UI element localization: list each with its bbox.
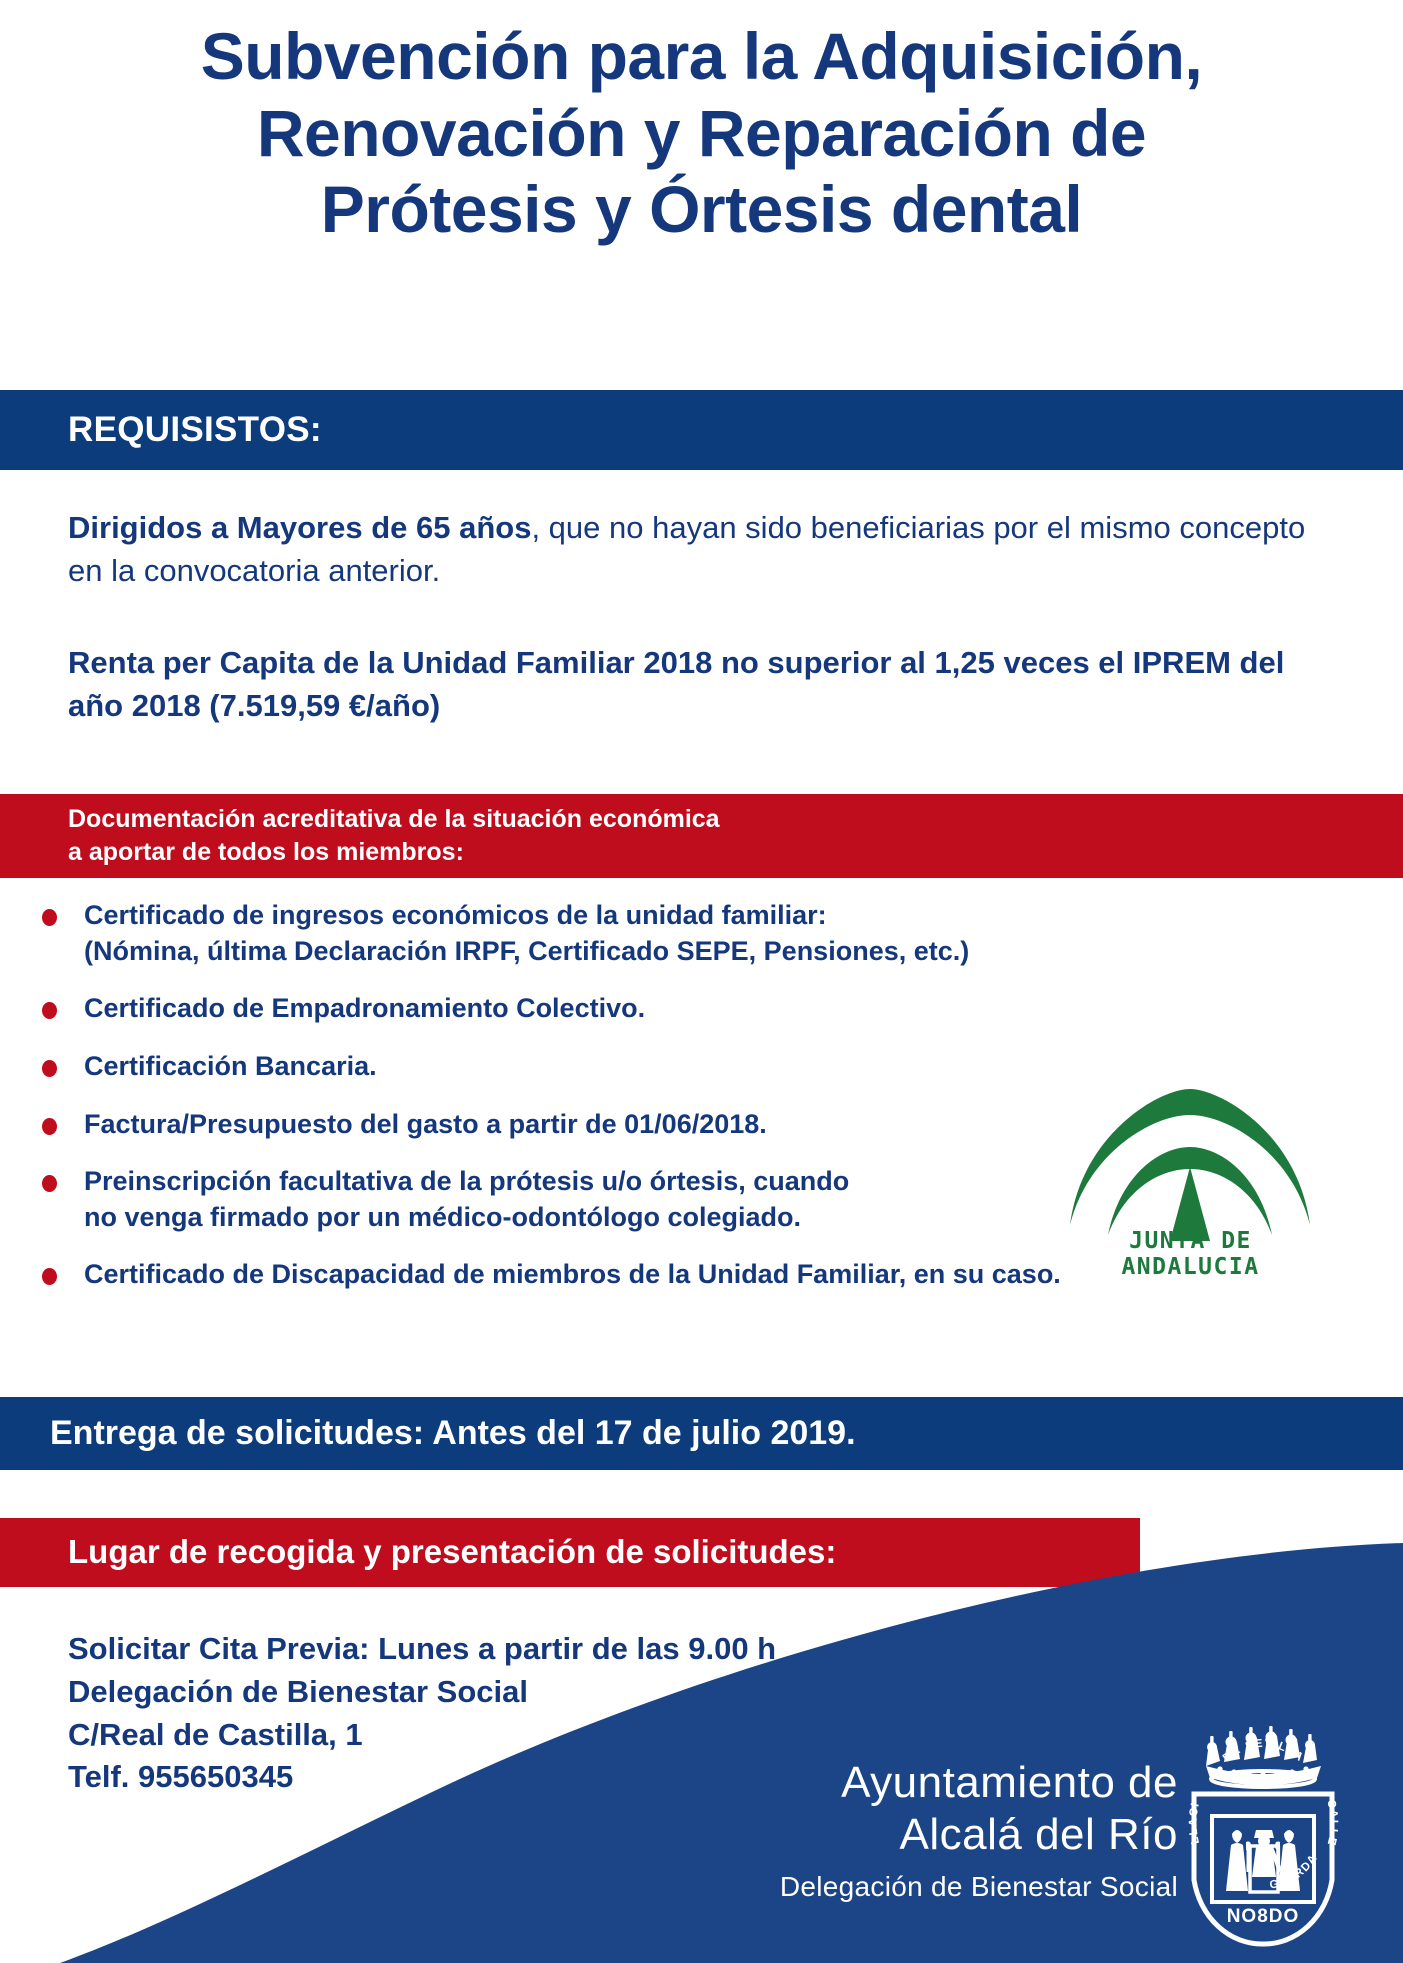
title-line-1: Subvención para la Adquisición, xyxy=(60,18,1343,95)
no8do-motto: NO8DO xyxy=(1227,1906,1300,1927)
requisitos-paragraph-1-bold: Dirigidos a Mayores de 65 años xyxy=(68,510,531,545)
junta-de-andalucia-caption: JUNTA DE ANDALUCIA xyxy=(1063,1228,1318,1280)
list-item: Certificado de ingresos económicos de la… xyxy=(30,898,1140,969)
list-item-line-2: (Nómina, última Declaración IRPF, Certif… xyxy=(84,934,1140,970)
requisitos-body: Dirigidos a Mayores de 65 años, que no h… xyxy=(68,506,1308,728)
svg-text:COLLACION: COLLACION xyxy=(1176,1694,1202,1845)
documentacion-band: Documentación acreditativa de la situaci… xyxy=(0,794,1403,878)
requisitos-band: REQUISISTOS: xyxy=(0,390,1403,470)
list-item-line-1: Certificado de Empadronamiento Colectivo… xyxy=(84,991,1110,1027)
lugar-band: Lugar de recogida y presentación de soli… xyxy=(0,1518,1140,1587)
contact-line-delegacion: Delegación de Bienestar Social xyxy=(68,1671,776,1714)
list-item-line-1: Preinscripción facultativa de la prótesi… xyxy=(84,1164,1110,1200)
contact-line-address: C/Real de Castilla, 1 xyxy=(68,1714,776,1757)
footer-line-alcala-del-rio: Alcalá del Río xyxy=(780,1809,1178,1861)
list-item: Preinscripción facultativa de la prótesi… xyxy=(30,1164,1110,1235)
list-item: Certificación Bancaria. xyxy=(30,1049,1110,1085)
lugar-band-label: Lugar de recogida y presentación de soli… xyxy=(0,1533,836,1572)
svg-text:NO8DO: NO8DO xyxy=(1227,1906,1300,1927)
bullet-dot-icon xyxy=(42,1002,57,1019)
list-item-line-2: no venga firmado por un médico-odontólog… xyxy=(84,1200,1110,1236)
list-item-line-1: Certificado de ingresos económicos de la… xyxy=(84,898,1140,934)
title-line-3: Prótesis y Órtesis dental xyxy=(60,171,1343,248)
contact-line-cita-previa: Solicitar Cita Previa: Lunes a partir de… xyxy=(68,1628,776,1671)
list-item: Certificado de Discapacidad de miembros … xyxy=(30,1257,1140,1293)
bullet-dot-icon xyxy=(42,1118,57,1135)
page-title: Subvención para la Adquisición, Renovaci… xyxy=(0,18,1403,248)
bullet-dot-icon xyxy=(42,1268,57,1285)
requisitos-band-label: REQUISISTOS: xyxy=(0,409,322,450)
documentacion-band-line-1: Documentación acreditativa de la situaci… xyxy=(68,803,720,836)
list-item-line-1: Certificado de Discapacidad de miembros … xyxy=(84,1257,1140,1293)
contact-line-telephone: Telf. 955650345 xyxy=(68,1756,776,1799)
bullet-dot-icon xyxy=(42,1175,57,1192)
footer-line-delegacion: Delegación de Bienestar Social xyxy=(780,1871,1178,1903)
requisitos-paragraph-1: Dirigidos a Mayores de 65 años, que no h… xyxy=(68,506,1308,593)
bullet-dot-icon xyxy=(42,909,57,926)
list-item-line-1: Factura/Presupuesto del gasto a partir d… xyxy=(84,1107,1110,1143)
poster-root: Subvención para la Adquisición, Renovaci… xyxy=(0,0,1403,1963)
entrega-band: Entrega de solicitudes: Antes del 17 de … xyxy=(0,1397,1403,1470)
list-item-line-1: Certificación Bancaria. xyxy=(84,1049,1110,1085)
documentacion-band-text: Documentación acreditativa de la situaci… xyxy=(0,803,720,869)
footer-line-ayuntamiento: Ayuntamiento de xyxy=(780,1757,1178,1809)
bullet-dot-icon xyxy=(42,1060,57,1077)
list-item: Certificado de Empadronamiento Colectivo… xyxy=(30,991,1110,1027)
footer-branding: Ayuntamiento de Alcalá del Río Delegació… xyxy=(780,1757,1178,1903)
title-line-2: Renovación y Reparación de xyxy=(60,95,1343,172)
requisitos-paragraph-2: Renta per Capita de la Unidad Familiar 2… xyxy=(68,641,1308,728)
alcala-del-rio-coat-of-arms-icon: NO8DO DE SEVILLA COLLACION CALLE Y GUARD… xyxy=(1176,1694,1351,1949)
entrega-band-label: Entrega de solicitudes: Antes del 17 de … xyxy=(0,1413,856,1453)
documentacion-list: Certificado de ingresos económicos de la… xyxy=(30,898,1110,1315)
documentacion-band-line-2: a aportar de todos los miembros: xyxy=(68,836,720,869)
contact-block: Solicitar Cita Previa: Lunes a partir de… xyxy=(68,1628,776,1799)
list-item: Factura/Presupuesto del gasto a partir d… xyxy=(30,1107,1110,1143)
